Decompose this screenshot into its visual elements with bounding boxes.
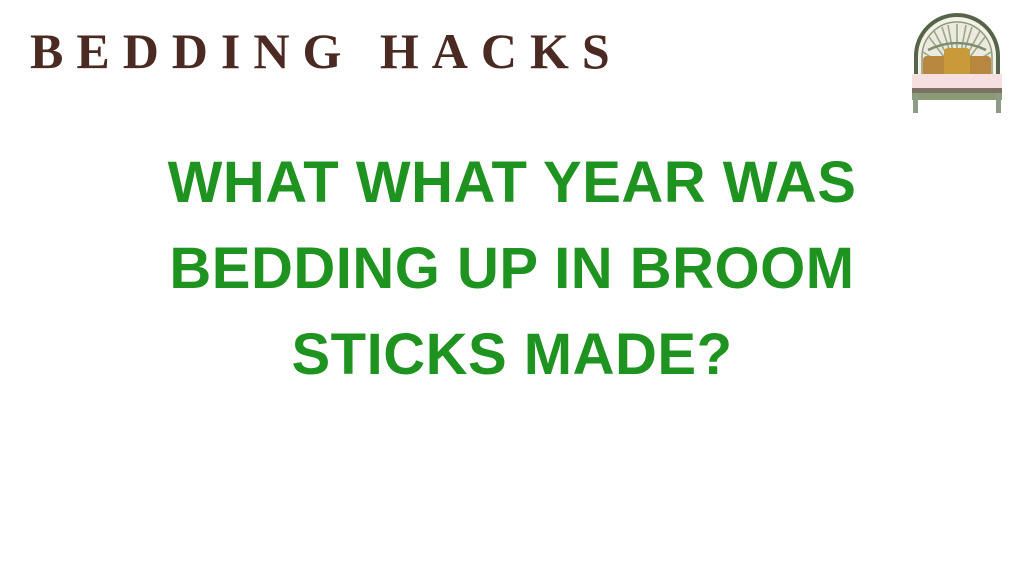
headline-line-3: STICKS MADE? <box>60 312 964 398</box>
slide-canvas: BEDDING HACKS <box>0 0 1024 576</box>
headline-line-1: WHAT WHAT YEAR WAS <box>60 140 964 226</box>
headline-line-2: BEDDING UP IN BROOM <box>60 226 964 312</box>
bed-icon <box>898 4 1016 116</box>
brand-title: BEDDING HACKS <box>30 26 623 76</box>
headline-block: WHAT WHAT YEAR WAS BEDDING UP IN BROOM S… <box>0 140 1024 398</box>
